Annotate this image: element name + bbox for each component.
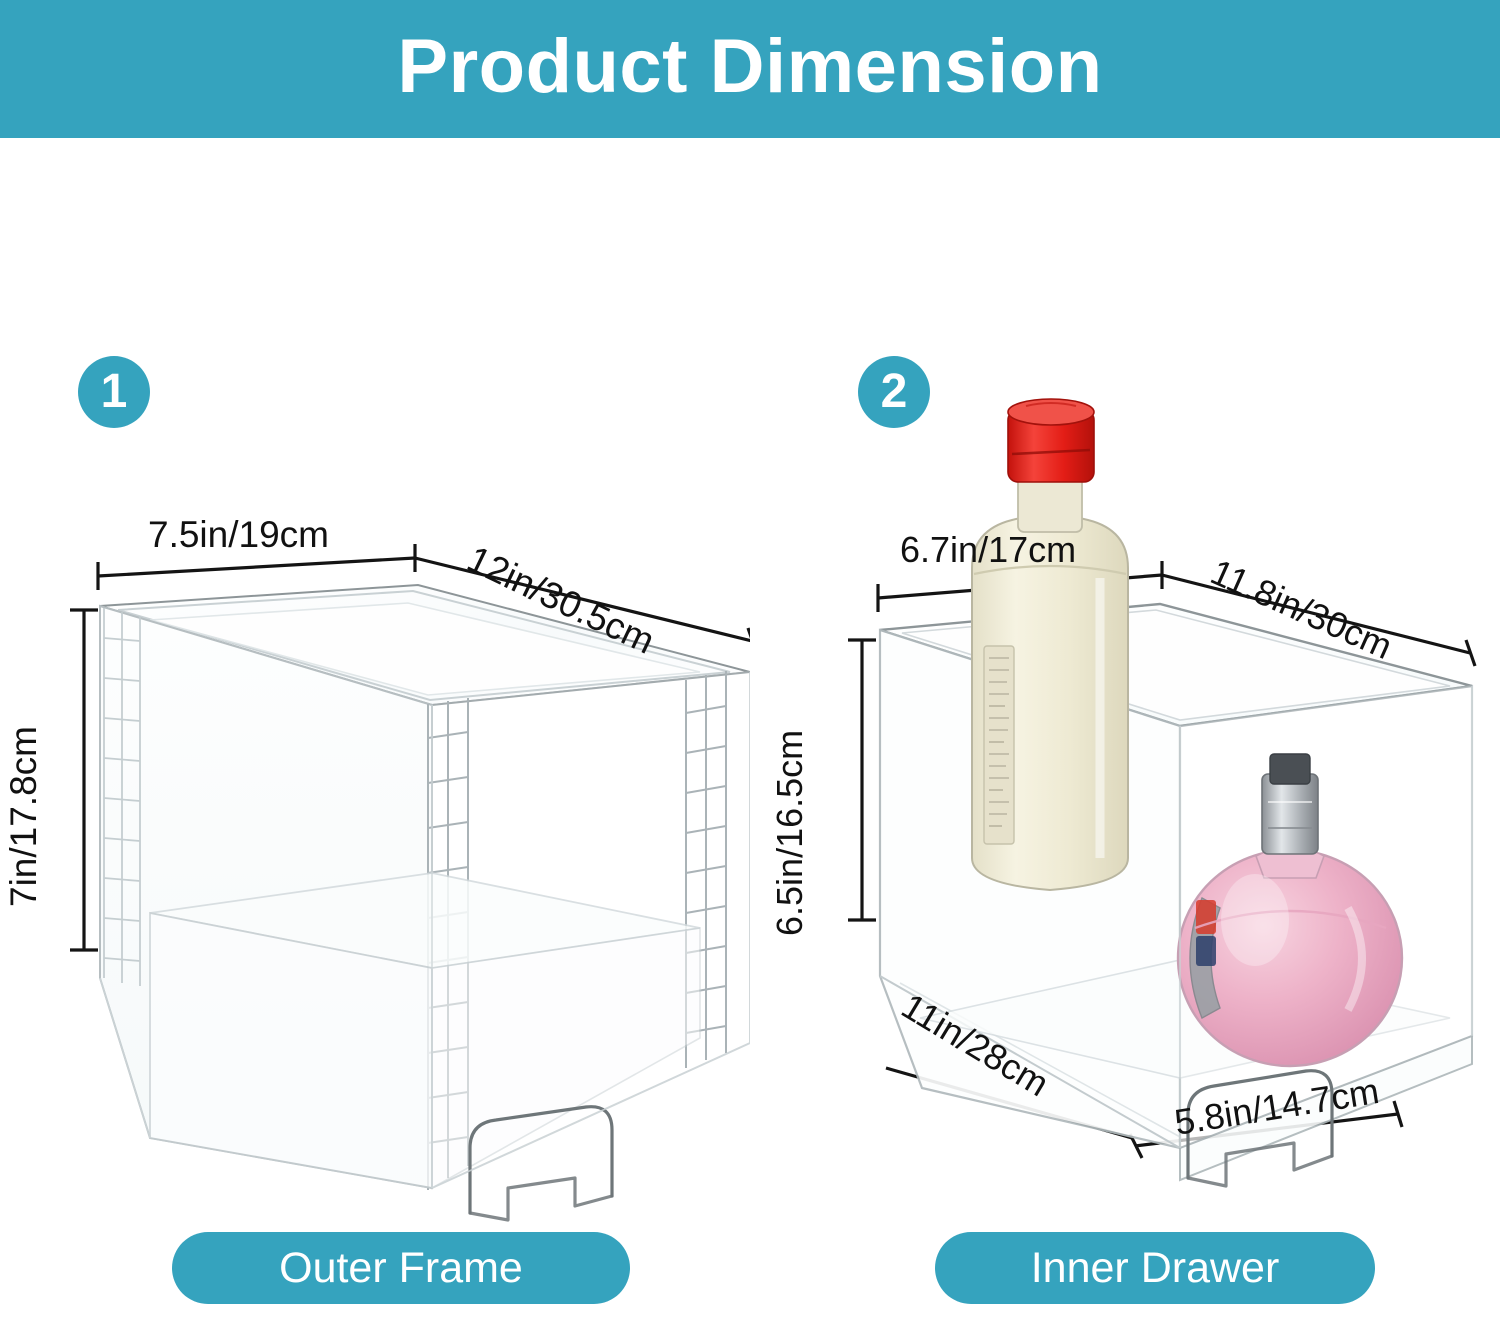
outer-frame-illustration [0,138,750,1324]
product-panel-inner-drawer [750,138,1500,1324]
dimension-label-outer-width: 7.5in/19cm [148,516,329,553]
step-badge-2: 2 [858,356,930,428]
spray-cap [1262,754,1318,854]
header-banner: Product Dimension [0,0,1500,138]
step-badge-1: 1 [78,356,150,428]
dimension-label-inner-width: 6.7in/17cm [900,532,1076,568]
lotion-bottle [972,399,1128,890]
bottle-cap [1008,399,1094,482]
inner-drawer-illustration [750,138,1500,1324]
product-panel-outer-frame [0,138,750,1324]
caption-pill-inner-drawer: Inner Drawer [935,1232,1375,1304]
outer-frame-body [100,585,750,1220]
dimension-label-outer-height: 7in/17.8cm [5,726,42,907]
page-title: Product Dimension [397,29,1102,105]
dimension-label-inner-height: 6.5in/16.5cm [772,730,808,936]
caption-pill-outer-frame: Outer Frame [172,1232,630,1304]
inner-drawer-body [880,399,1472,1186]
